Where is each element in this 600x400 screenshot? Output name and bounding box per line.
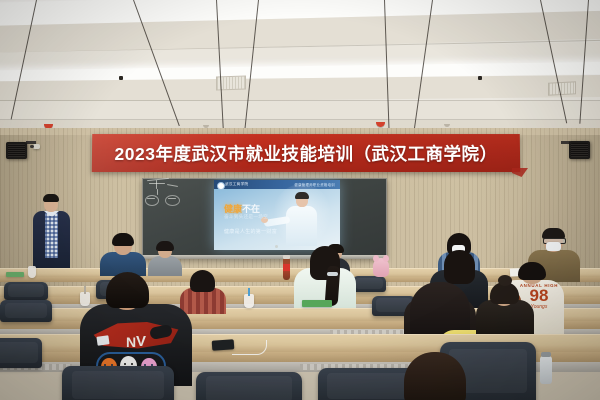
drink-cup <box>80 292 90 306</box>
chair <box>0 338 42 368</box>
wall-speaker-left <box>6 142 27 159</box>
slide-subline-2: 健康是人生的第一财富 <box>224 228 277 235</box>
projection-screen: 武汉工商学院 健康管理师职业资格培训 健康不在 奋斗到头还是一场空 健康是人生的… <box>214 180 340 250</box>
attendee-grey-jacket-hair <box>156 241 174 251</box>
chair-foreground <box>196 372 302 400</box>
slide-headline-highlight: 健康 <box>224 204 242 214</box>
hoodie-brand-text: V <box>136 333 145 350</box>
banner-title: 2023年度武汉市就业技能培训（武汉工商学院） <box>92 134 520 172</box>
bottle-cap-icon <box>541 352 551 357</box>
hoodie-brand-text: N <box>126 334 135 350</box>
ceiling-camera-icon <box>33 144 40 149</box>
white-charging-cable <box>232 340 267 355</box>
smartphone-on-desk[interactable] <box>212 339 235 351</box>
slide-subline-1: 奋斗到头还是一场空 <box>224 214 268 220</box>
ceiling <box>0 0 600 132</box>
attendee-dark-coat-hair <box>444 250 475 284</box>
bottle-label <box>283 264 290 271</box>
drink-cup <box>244 294 254 308</box>
school-logo-icon <box>217 182 225 190</box>
wall-speaker-right <box>569 141 590 159</box>
slide-logo-text: 武汉工商学院 <box>225 182 248 187</box>
chair <box>352 276 386 292</box>
plush-ear-icon <box>383 255 389 262</box>
presenter-shirt <box>45 213 58 258</box>
attendee-grey-jacket-body <box>148 256 182 276</box>
bottle-cap-icon <box>283 255 290 259</box>
slide-figure-body <box>286 206 317 246</box>
hair-bun-icon <box>498 275 512 286</box>
chair <box>4 282 48 300</box>
screen-power-indicator <box>275 245 278 248</box>
presenter-hair <box>43 194 59 202</box>
slide-headline-rest: 不在 <box>242 204 260 214</box>
event-banner: 2023年度武汉市就业技能培训（武汉工商学院） <box>92 134 520 172</box>
straw-icon <box>84 286 86 294</box>
chair-foreground <box>318 368 418 400</box>
ceiling-vent-icon <box>548 81 576 95</box>
chair-foreground <box>62 366 174 400</box>
water-bottle <box>540 356 552 384</box>
notebook <box>6 272 24 277</box>
slide-figure-hair <box>295 192 309 199</box>
chalk-writing <box>143 179 183 221</box>
plush-ear-icon <box>373 255 379 262</box>
notebook <box>302 300 332 307</box>
hoodie-white-patch <box>96 335 109 346</box>
chair <box>0 300 52 322</box>
straw-icon <box>248 288 250 296</box>
attendee-varsity-hair <box>518 262 546 280</box>
lecture-hall-photo: 2023年度武汉市就业技能培训（武汉工商学院） 武汉工商学院 健康管理师职业资格… <box>0 0 600 400</box>
hair-tie-icon <box>327 272 338 276</box>
attendee-navy-shirt-hair <box>112 233 134 246</box>
face-mask-icon <box>546 242 561 251</box>
attendee-red-plaid-hair <box>190 270 215 292</box>
drink-cup <box>28 266 36 278</box>
attendee-black-hoodie-hair <box>106 272 149 308</box>
